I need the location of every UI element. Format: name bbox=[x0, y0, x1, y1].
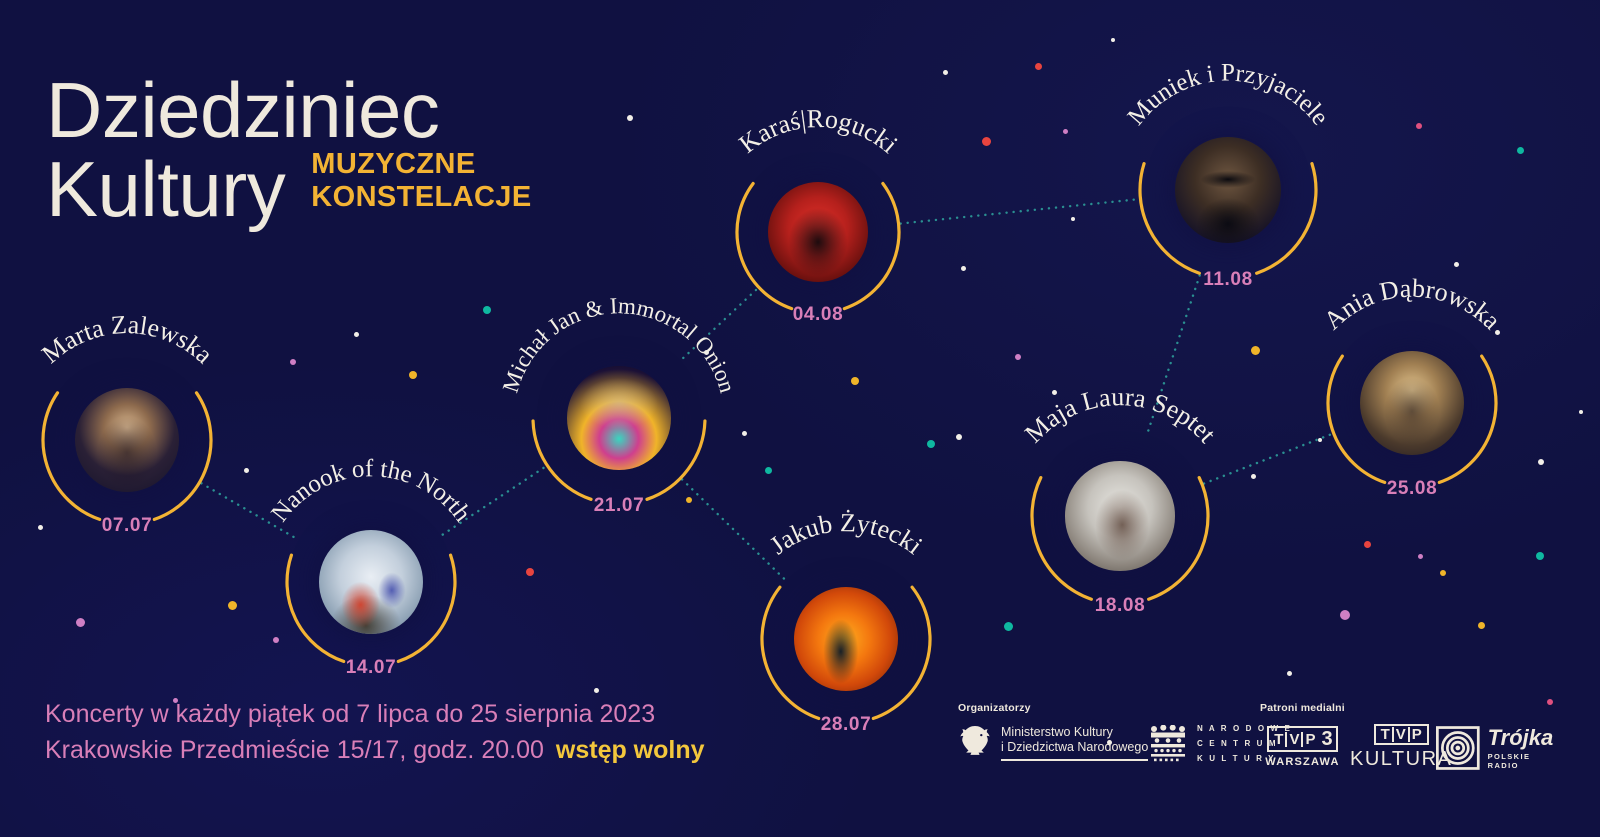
trojka-sublabel: POLSKIE RADIO bbox=[1488, 752, 1558, 770]
artist-ring-jakub-zytecki: Jakub Żytecki bbox=[692, 485, 1000, 793]
media-patrons-heading: Patroni medialni bbox=[1260, 702, 1345, 714]
tvp-kultura-mark: TVP bbox=[1374, 724, 1429, 745]
ministerstwo-kultury-text: Ministerstwo Kultury i Dziedzictwa Narod… bbox=[1001, 725, 1148, 761]
title-line-2: Kultury bbox=[46, 151, 285, 227]
footer-info: Koncerty w każdy piątek od 7 lipca do 25… bbox=[45, 697, 705, 768]
gold-arc-segment bbox=[533, 421, 591, 499]
tvp-kultura-letters: TVP bbox=[1379, 727, 1424, 742]
gold-arc-segment bbox=[1439, 356, 1496, 482]
artist-ring-maja-laura-septet: Maja Laura Septet bbox=[962, 358, 1278, 674]
tvp3-number: 3 bbox=[1321, 729, 1332, 749]
gold-arc-segment bbox=[1032, 478, 1091, 600]
ministerstwo-line-1: Ministerstwo Kultury bbox=[1001, 725, 1148, 740]
footer-address: Krakowskie Przedmieście 15/17, godz. 20.… bbox=[45, 736, 544, 764]
artist-date-michal-jan-immortal-onion: 21.07 bbox=[519, 495, 719, 517]
footer-address-row: Krakowskie Przedmieście 15/17, godz. 20.… bbox=[45, 733, 705, 769]
subtitle-line-1: MUZYCZNE bbox=[311, 148, 531, 180]
title-line-1: Dziedziniec bbox=[46, 72, 532, 148]
artist-name-marta-zalewska: Marta Zalewska bbox=[36, 310, 219, 370]
gold-arc-segment bbox=[398, 555, 455, 661]
tvp3-letters: TVP bbox=[1272, 732, 1317, 747]
tvp3-mark: TVP 3 bbox=[1267, 726, 1337, 752]
artist-name-muniek-i-przyjaciele: Muniek i Przyjaciele bbox=[1123, 60, 1334, 131]
media-patrons-group: Patroni medialni TVP 3 WARSZAWA bbox=[1260, 702, 1345, 768]
artist-name-karas-rogucki: Karaś|Rogucki bbox=[734, 104, 904, 159]
artist-date-marta-zalewska: 07.07 bbox=[27, 515, 227, 537]
artist-ring-ania-dabrowska: Ania Dąbrowska bbox=[1258, 249, 1566, 557]
gold-arc-segment bbox=[1328, 356, 1385, 482]
gold-arc-segment bbox=[873, 587, 930, 718]
gold-arc-segment bbox=[737, 183, 792, 308]
subtitle: MUZYCZNE KONSTELACJE bbox=[311, 148, 531, 227]
free-entry-label: wstęp wolny bbox=[556, 736, 705, 764]
logo-tvp3-warszawa: TVP 3 WARSZAWA bbox=[1260, 726, 1345, 768]
gold-arc-segment bbox=[43, 393, 100, 520]
tvp3-warszawa-label: WARSZAWA bbox=[1260, 756, 1345, 768]
gold-arc-segment bbox=[1149, 478, 1208, 600]
artist-name-nanook-of-the-north: Nanook of the North bbox=[266, 455, 476, 527]
title-block: Dziedziniec Kultury MUZYCZNE KONSTELACJE bbox=[46, 72, 532, 227]
artist-node-jakub-zytecki[interactable]: Jakub Żytecki28.07 bbox=[692, 485, 1000, 793]
credits-block: Organizatorzy Ministerstwo Kultury i Dzi… bbox=[958, 702, 1558, 782]
artist-node-karas-rogucki[interactable]: Karaś|Rogucki04.08 bbox=[667, 81, 969, 383]
ministerstwo-line-2: i Dziedzictwa Narodowego bbox=[1001, 740, 1148, 755]
artist-date-karas-rogucki: 04.08 bbox=[718, 304, 918, 326]
artist-name-maja-laura-septet: Maja Laura Septet bbox=[1019, 382, 1222, 449]
gold-arc-segment bbox=[762, 587, 819, 718]
organizers-group: Organizatorzy Ministerstwo Kultury i Dzi… bbox=[958, 702, 1148, 763]
artist-name-ania-dabrowska: Ania Dąbrowska bbox=[1318, 274, 1507, 336]
trojka-target-icon bbox=[1436, 724, 1480, 772]
gold-arc-segment bbox=[287, 555, 344, 661]
artist-name-jakub-zytecki: Jakub Żytecki bbox=[764, 508, 928, 560]
poster-canvas: Marta Zalewska07.07Nanook of the North14… bbox=[0, 0, 1600, 837]
gold-arc-segment bbox=[1140, 164, 1199, 274]
artist-node-ania-dabrowska[interactable]: Ania Dąbrowska25.08 bbox=[1258, 249, 1566, 557]
artist-date-ania-dabrowska: 25.08 bbox=[1312, 478, 1512, 500]
nck-crown-icon bbox=[1148, 725, 1188, 763]
logo-trojka-polskie-radio: Trójka POLSKIE RADIO bbox=[1436, 724, 1558, 772]
artist-date-maja-laura-septet: 18.08 bbox=[1020, 595, 1220, 617]
trojka-wordmark: Trójka bbox=[1488, 727, 1558, 749]
footer-dates: Koncerty w każdy piątek od 7 lipca do 25… bbox=[45, 697, 705, 733]
organizers-heading: Organizatorzy bbox=[958, 702, 1148, 714]
gold-arc-segment bbox=[154, 393, 211, 520]
artist-ring-karas-rogucki: Karaś|Rogucki bbox=[667, 81, 969, 383]
artist-date-jakub-zytecki: 28.07 bbox=[746, 714, 946, 736]
gold-arc-segment bbox=[844, 183, 899, 308]
polish-eagle-icon bbox=[958, 723, 992, 763]
subtitle-line-2: KONSTELACJE bbox=[311, 181, 531, 213]
artist-date-nanook-of-the-north: 14.07 bbox=[271, 657, 471, 679]
artist-node-maja-laura-septet[interactable]: Maja Laura Septet18.08 bbox=[962, 358, 1278, 674]
logo-ministerstwo-kultury: Ministerstwo Kultury i Dziedzictwa Narod… bbox=[958, 723, 1148, 763]
